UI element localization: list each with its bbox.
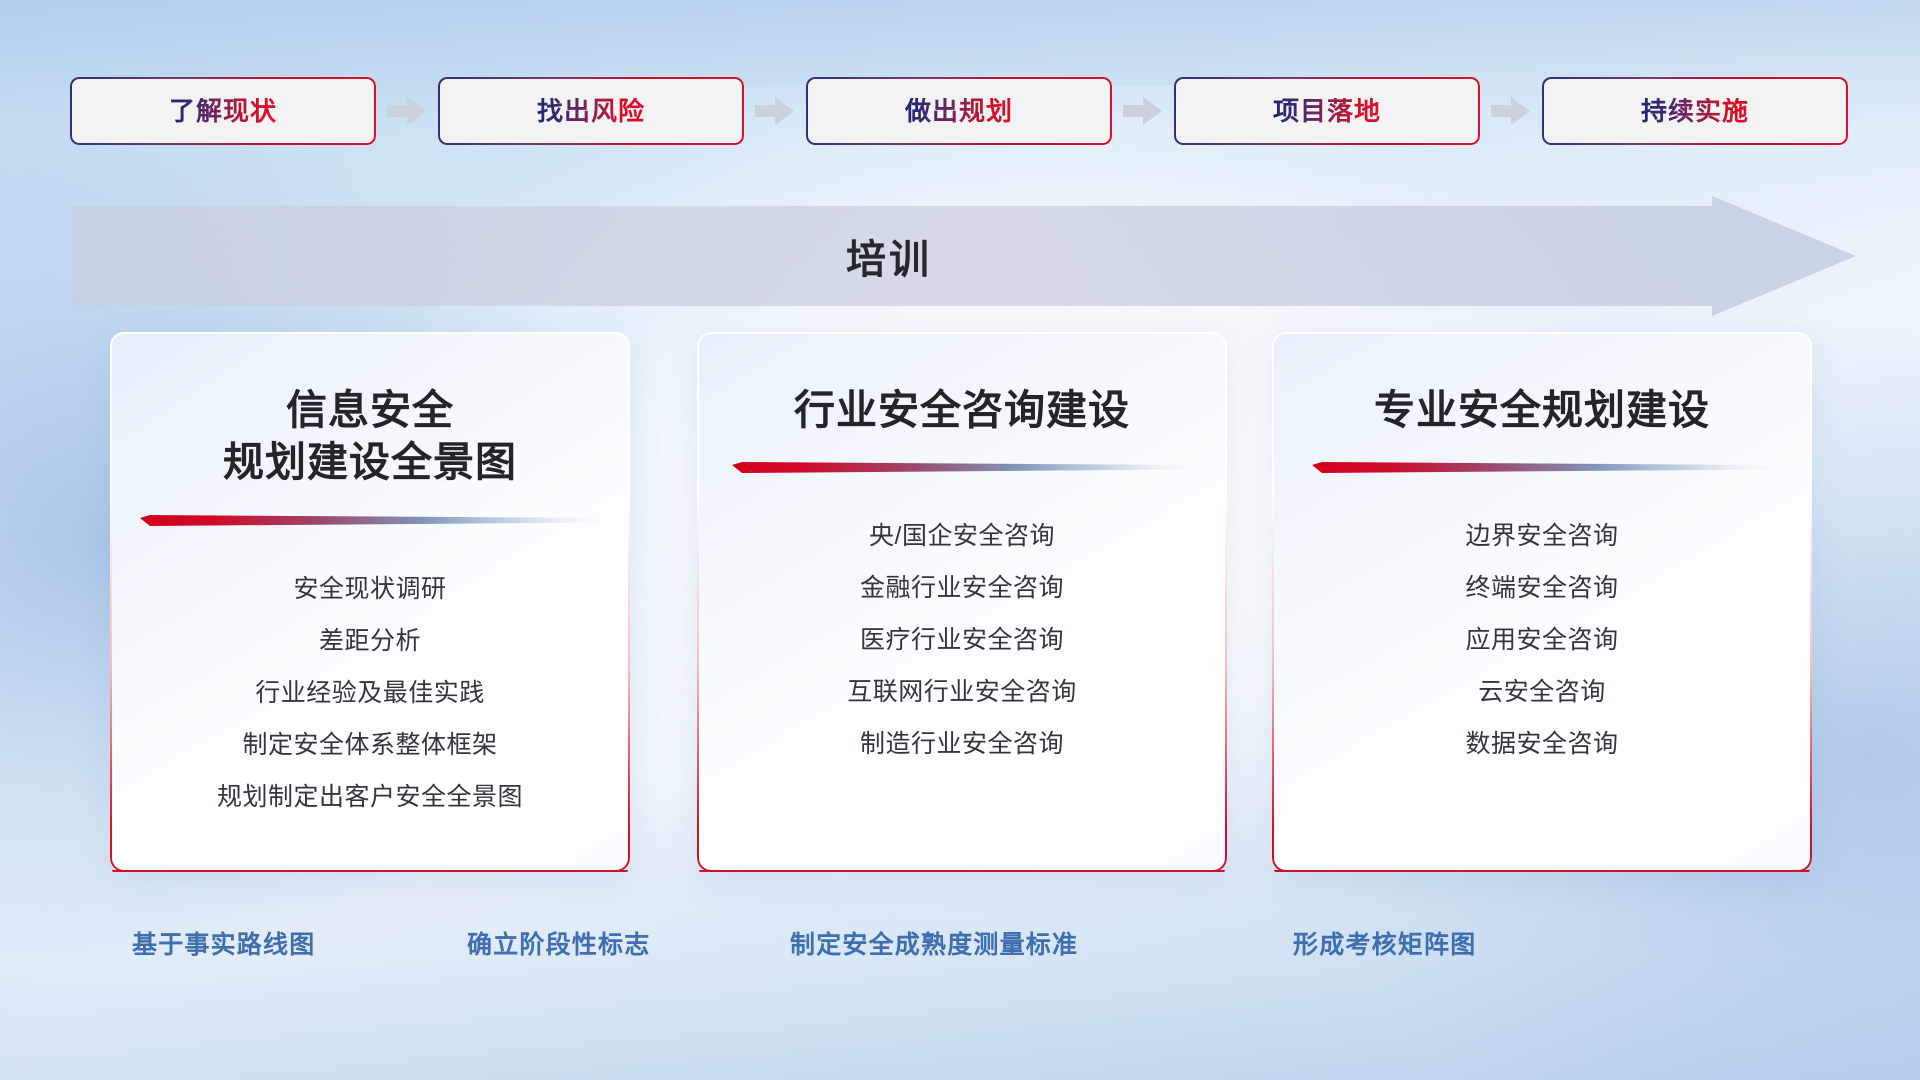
card-row: 信息安全 规划建设全景图安全现状调研差距分析行业经验及最佳实践制定安全体系整体框… [0, 332, 1920, 892]
bottom-label-row: 基于事实路线图确立阶段性标志制定安全成熟度测量标准形成考核矩阵图 [0, 925, 1920, 973]
chevron-right-icon [1480, 76, 1542, 146]
outcome-label-3: 制定安全成熟度测量标准 [790, 925, 1078, 961]
process-step-2[interactable]: 找出风险 [438, 77, 744, 145]
gradient-rule-icon [140, 515, 600, 529]
service-card-inner: 行业安全咨询建设央/国企安全咨询金融行业安全咨询医疗行业安全咨询互联网行业安全咨… [697, 332, 1227, 872]
chevron-right-icon [1112, 76, 1174, 146]
list-item: 云安全咨询 [1478, 666, 1606, 718]
training-band-label-wrap: 培训 [72, 196, 1856, 316]
service-card-title: 行业安全咨询建设 [794, 384, 1130, 436]
list-item: 边界安全咨询 [1465, 510, 1618, 562]
chevron-right-icon [744, 76, 806, 146]
outcome-label-2: 确立阶段性标志 [467, 925, 650, 961]
list-item: 互联网行业安全咨询 [847, 666, 1077, 718]
service-card-2[interactable]: 行业安全咨询建设央/国企安全咨询金融行业安全咨询医疗行业安全咨询互联网行业安全咨… [697, 332, 1227, 872]
list-item: 安全现状调研 [293, 563, 446, 615]
training-band-label: 培训 [846, 227, 932, 285]
list-item: 央/国企安全咨询 [869, 510, 1055, 562]
training-band: 培训 [72, 196, 1856, 316]
service-card-1[interactable]: 信息安全 规划建设全景图安全现状调研差距分析行业经验及最佳实践制定安全体系整体框… [110, 332, 630, 872]
list-item: 行业经验及最佳实践 [255, 667, 485, 719]
list-item: 医疗行业安全咨询 [860, 614, 1064, 666]
list-item: 终端安全咨询 [1465, 562, 1618, 614]
process-step-flow: 了解现状找出风险做出规划项目落地持续实施 [70, 76, 1850, 146]
process-step-1[interactable]: 了解现状 [70, 77, 376, 145]
service-card-list: 边界安全咨询终端安全咨询应用安全咨询云安全咨询数据安全咨询 [1298, 510, 1786, 770]
process-step-label: 项目落地 [1273, 98, 1381, 124]
process-step-label: 找出风险 [537, 98, 645, 124]
process-step-label: 做出规划 [905, 98, 1013, 124]
process-step-3[interactable]: 做出规划 [806, 77, 1112, 145]
service-card-list: 央/国企安全咨询金融行业安全咨询医疗行业安全咨询互联网行业安全咨询制造行业安全咨… [723, 510, 1201, 770]
process-step-4[interactable]: 项目落地 [1174, 77, 1480, 145]
service-card-title: 专业安全规划建设 [1374, 384, 1710, 436]
service-card-list: 安全现状调研差距分析行业经验及最佳实践制定安全体系整体框架规划制定出客户安全全景… [136, 563, 604, 823]
list-item: 规划制定出客户安全全景图 [217, 771, 523, 823]
service-card-inner: 信息安全 规划建设全景图安全现状调研差距分析行业经验及最佳实践制定安全体系整体框… [110, 332, 630, 872]
service-card-title: 信息安全 规划建设全景图 [223, 384, 517, 489]
process-step-label: 了解现状 [169, 98, 277, 124]
list-item: 应用安全咨询 [1465, 614, 1618, 666]
outcome-label-4: 形成考核矩阵图 [1293, 925, 1476, 961]
process-step-label: 持续实施 [1641, 98, 1749, 124]
list-item: 金融行业安全咨询 [860, 562, 1064, 614]
service-card-inner: 专业安全规划建设边界安全咨询终端安全咨询应用安全咨询云安全咨询数据安全咨询 [1272, 332, 1812, 872]
list-item: 数据安全咨询 [1465, 718, 1618, 770]
gradient-rule-icon [732, 462, 1192, 476]
process-step-5[interactable]: 持续实施 [1542, 77, 1848, 145]
list-item: 制造行业安全咨询 [860, 718, 1064, 770]
outcome-label-1: 基于事实路线图 [132, 925, 315, 961]
service-card-3[interactable]: 专业安全规划建设边界安全咨询终端安全咨询应用安全咨询云安全咨询数据安全咨询 [1272, 332, 1812, 872]
list-item: 差距分析 [319, 615, 421, 667]
list-item: 制定安全体系整体框架 [242, 719, 497, 771]
gradient-rule-icon [1312, 462, 1772, 476]
chevron-right-icon [376, 76, 438, 146]
